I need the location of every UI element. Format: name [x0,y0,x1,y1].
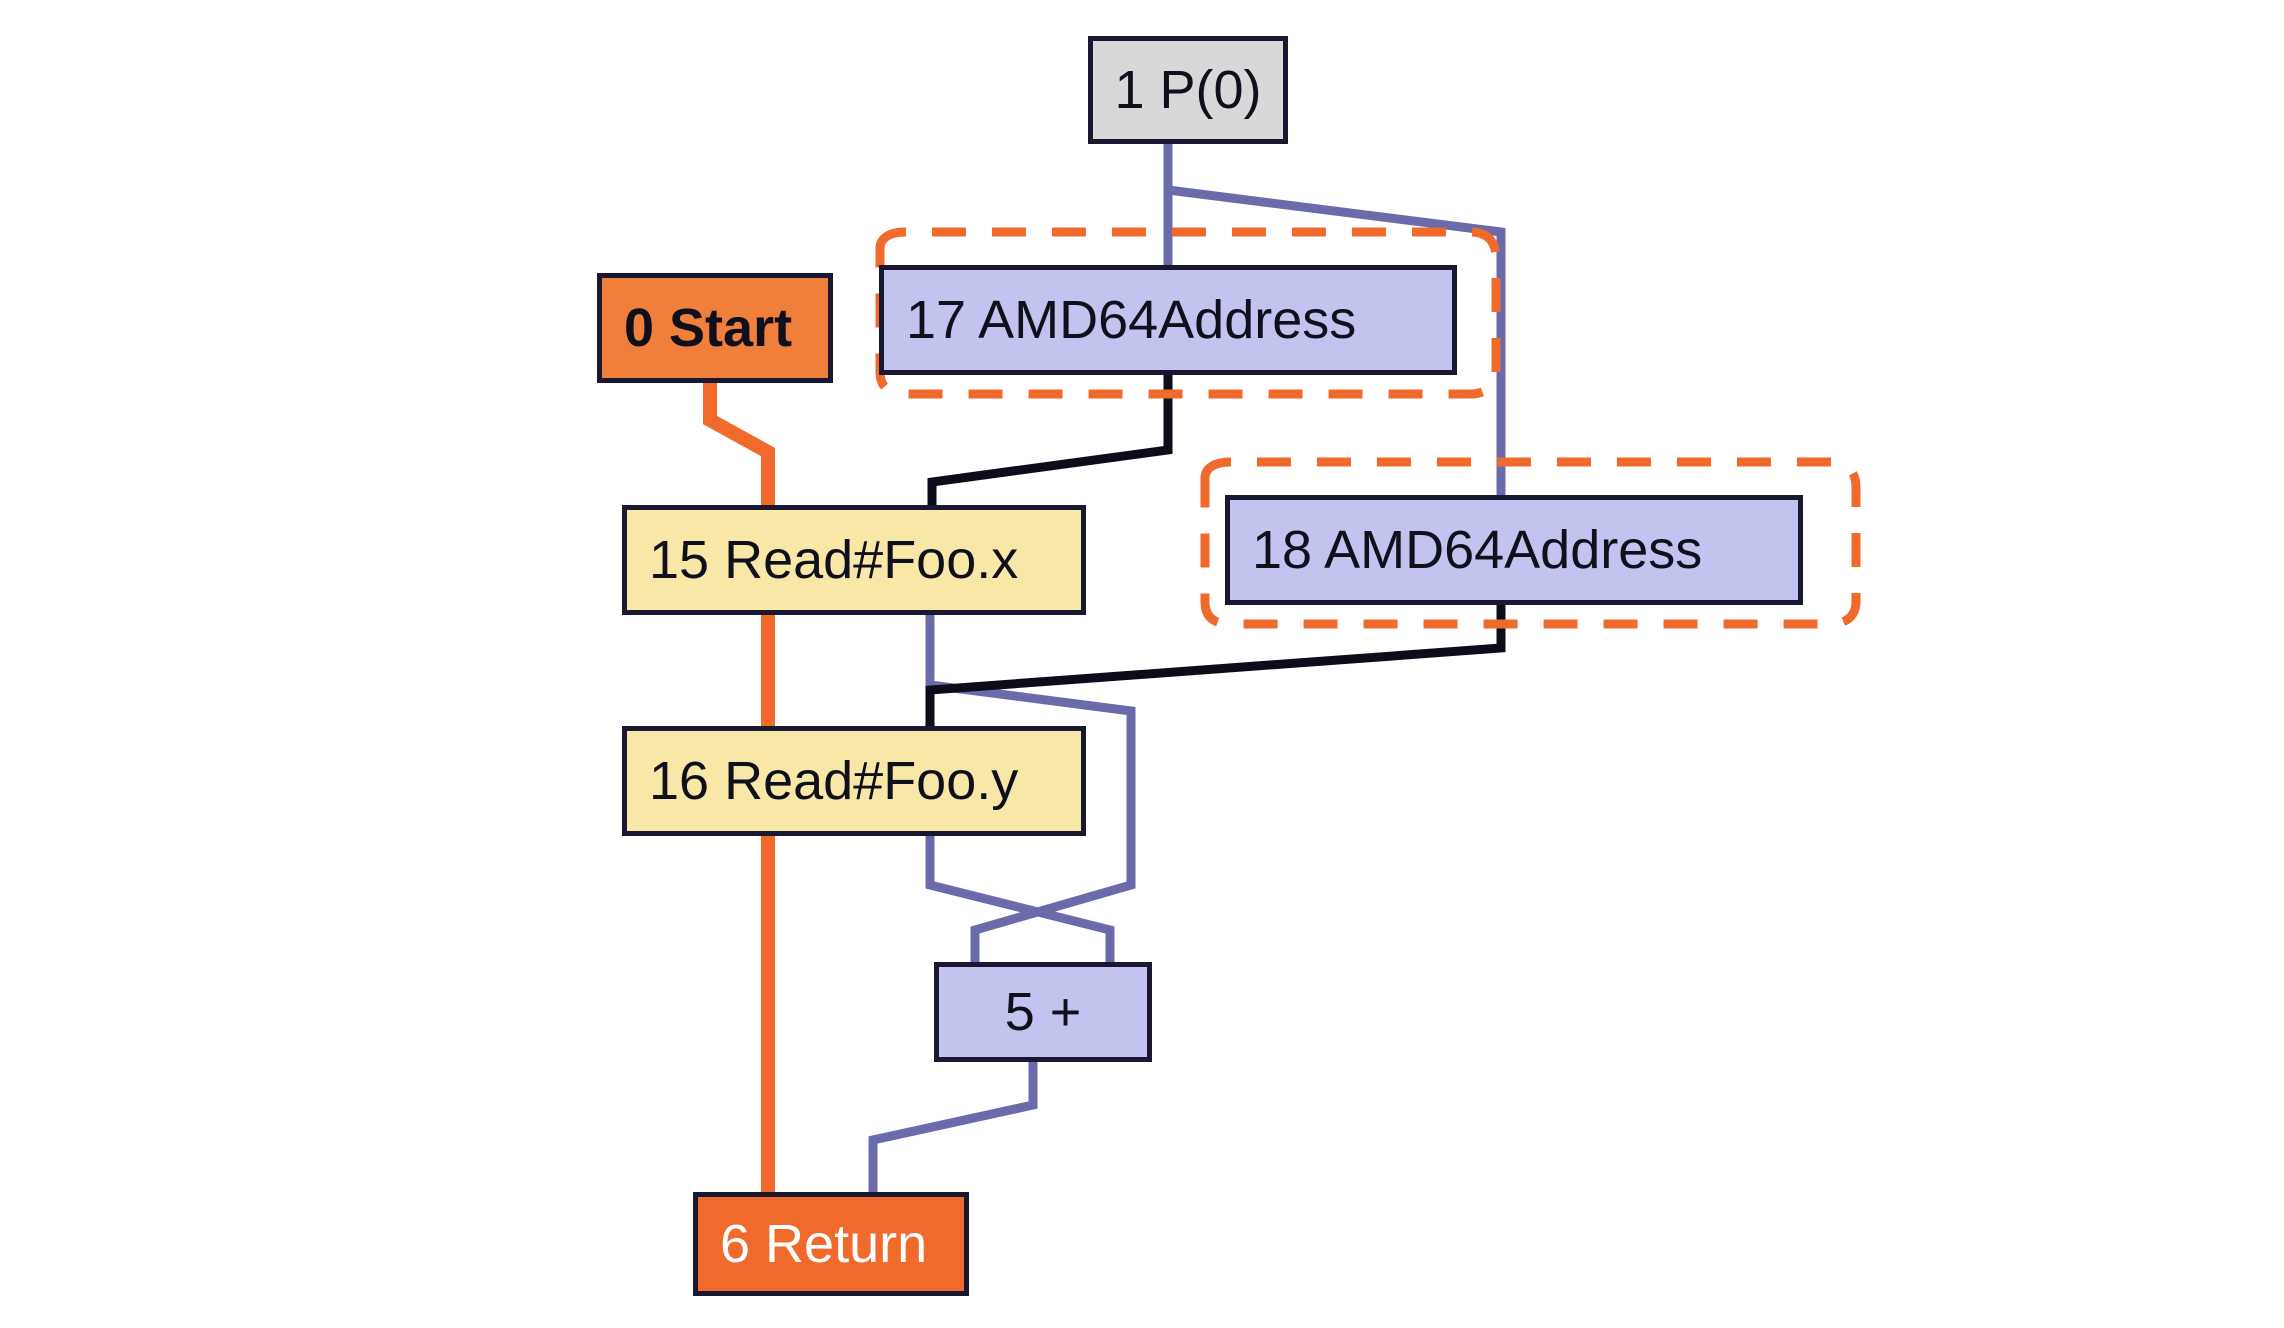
node-param-1[interactable]: 1 P(0) [1088,36,1288,144]
node-label: 18 AMD64Address [1230,523,1724,577]
node-read-foo-y-16[interactable]: 16 Read#Foo.y [622,726,1086,836]
node-return-6[interactable]: 6 Return [693,1192,969,1296]
edge-start-to-read15 [710,383,768,505]
node-label: 6 Return [698,1217,949,1271]
diagram-canvas: 1 P(0) 0 Start 17 AMD64Address 15 Read#F… [0,0,2284,1328]
node-label: 5 + [939,985,1147,1039]
node-add-5[interactable]: 5 + [934,962,1152,1062]
node-amd64address-17[interactable]: 17 AMD64Address [879,265,1457,375]
node-read-foo-x-15[interactable]: 15 Read#Foo.x [622,505,1086,615]
node-label: 0 Start [602,301,814,355]
node-label: 1 P(0) [1093,63,1283,117]
node-label: 17 AMD64Address [884,293,1378,347]
edge-add5-to-return [873,1062,1033,1192]
graph-edges-layer [0,0,2284,1328]
node-label: 15 Read#Foo.x [627,533,1040,587]
node-start-0[interactable]: 0 Start [597,273,833,383]
node-label: 16 Read#Foo.y [627,754,1040,808]
node-amd64address-18[interactable]: 18 AMD64Address [1225,495,1803,605]
